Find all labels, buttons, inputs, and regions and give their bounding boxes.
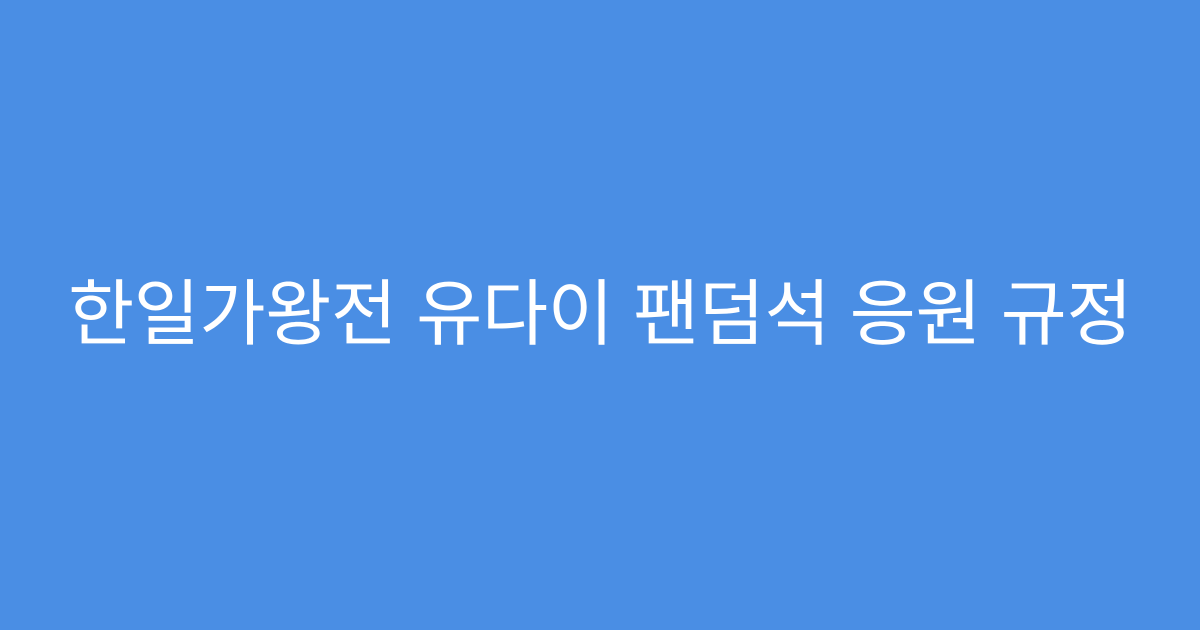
share-image-card: 한일가왕전 유다이 팬덤석 응원 규정 [0, 0, 1200, 630]
page-title: 한일가왕전 유다이 팬덤석 응원 규정 [68, 270, 1132, 360]
title-container: 한일가왕전 유다이 팬덤석 응원 규정 [60, 270, 1140, 360]
